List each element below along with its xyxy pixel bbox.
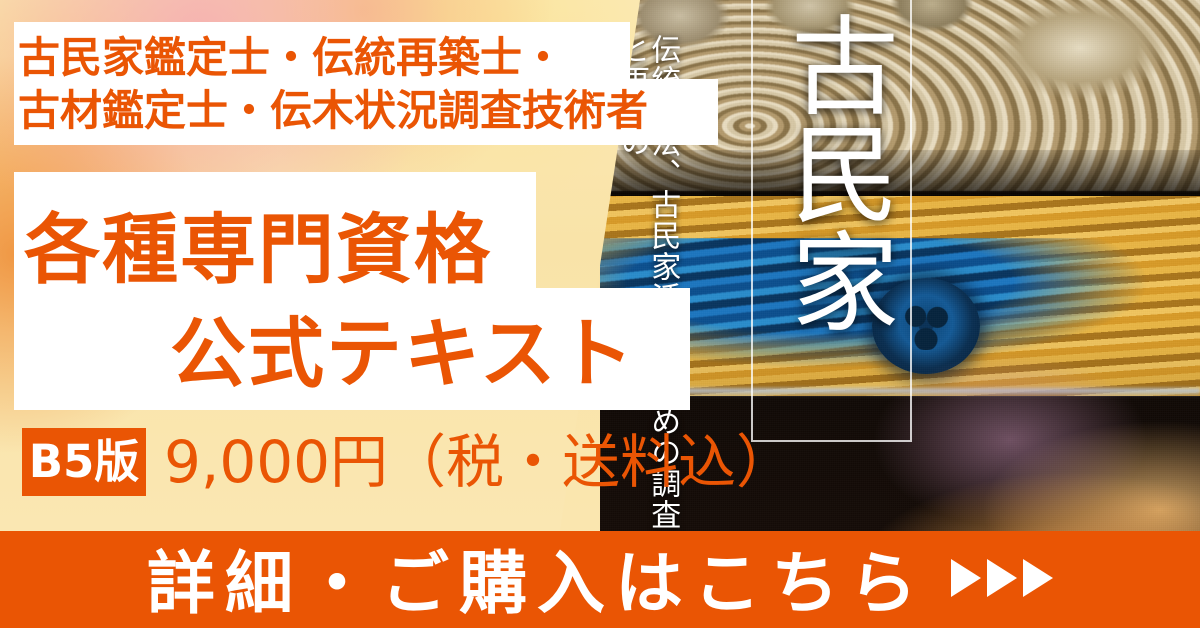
cta-bar[interactable]: 詳細・ご購入はこちら — [0, 531, 1200, 628]
headline-line-2: 公式テキスト — [170, 292, 636, 402]
subheadline-line-1: 古民家鑑定士・伝統再築士・ — [18, 24, 564, 85]
cta-label: 詳細・ご購入はこちら — [147, 528, 927, 627]
format-badge: B5版 — [22, 428, 146, 496]
cta-arrows — [951, 559, 1053, 597]
triangle-right-icon — [951, 559, 981, 597]
book-cover-title: 古民家 — [758, 10, 900, 334]
price-text: 9,000円（税・送料込） — [164, 430, 794, 494]
triangle-right-icon — [987, 559, 1017, 597]
triangle-right-icon — [1023, 559, 1053, 597]
promo-banner: 古民家 伝統構法、古民家活用のための調査と再生の 古民家鑑定士・伝統再築士・ 古… — [0, 0, 1200, 628]
headline-line-1: 各種専門資格 — [24, 188, 492, 298]
subheadline-line-2: 古材鑑定士・伝木状況調査技術者 — [18, 77, 648, 138]
